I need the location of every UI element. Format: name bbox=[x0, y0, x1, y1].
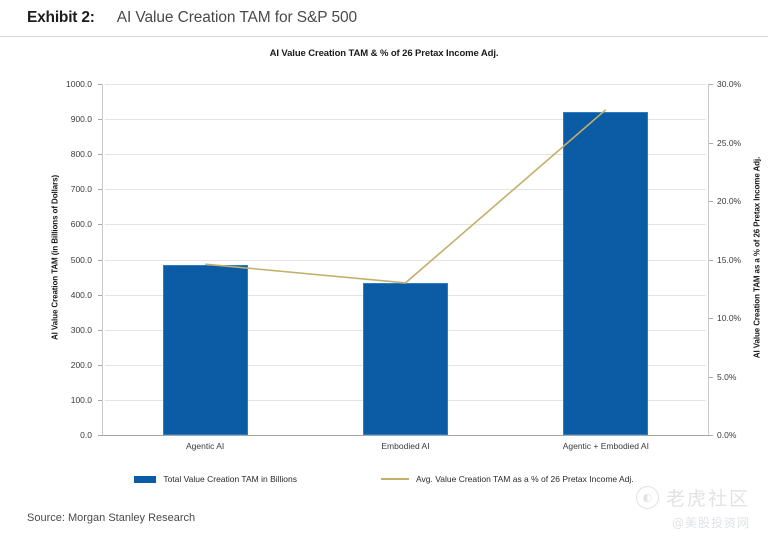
x-axis-tick-label: Agentic + Embodied AI bbox=[526, 441, 686, 451]
y2-axis-tick-label: 10.0% bbox=[717, 314, 741, 323]
plot-area bbox=[105, 84, 706, 435]
legend-item-bar[interactable]: Total Value Creation TAM in Billions bbox=[134, 474, 297, 484]
chart-title: AI Value Creation TAM & % of 26 Pretax I… bbox=[0, 48, 768, 59]
exhibit-label: Exhibit 2: bbox=[27, 9, 95, 27]
line-path bbox=[205, 110, 606, 283]
exhibit-header: Exhibit 2: AI Value Creation TAM for S&P… bbox=[0, 0, 768, 36]
y2-axis-tick-mark bbox=[709, 435, 713, 436]
y2-axis-tick-label: 0.0% bbox=[717, 431, 736, 440]
y2-axis-title: AI Value Creation TAM as a % of 26 Preta… bbox=[753, 108, 762, 408]
x-axis-line bbox=[102, 435, 709, 437]
y2-axis-tick-mark bbox=[709, 201, 713, 202]
y2-axis-tick-mark bbox=[709, 377, 713, 378]
y-axis-tick-label: 200.0 bbox=[30, 361, 92, 370]
page-title: AI Value Creation TAM for S&P 500 bbox=[117, 9, 357, 27]
y-axis-tick-label: 100.0 bbox=[30, 396, 92, 405]
y-axis-tick-label: 500.0 bbox=[30, 256, 92, 265]
y2-axis-tick-mark bbox=[709, 260, 713, 261]
legend-item-line[interactable]: Avg. Value Creation TAM as a % of 26 Pre… bbox=[381, 474, 634, 484]
y2-axis-tick-mark bbox=[709, 318, 713, 319]
y2-axis-tick-mark bbox=[709, 143, 713, 144]
y-axis-tick-label: 400.0 bbox=[30, 291, 92, 300]
y2-axis-tick-label: 20.0% bbox=[717, 197, 741, 206]
y2-axis-tick-mark bbox=[709, 84, 713, 85]
legend-item-label: Total Value Creation TAM in Billions bbox=[163, 474, 297, 484]
y-axis-tick-label: 0.0 bbox=[30, 431, 92, 440]
watermark-handle: @美股投资网 bbox=[600, 514, 750, 531]
source-note: Source: Morgan Stanley Research bbox=[27, 512, 195, 524]
line-series bbox=[105, 84, 706, 435]
y-axis-tick-label: 1000.0 bbox=[30, 80, 92, 89]
y2-axis-tick-label: 15.0% bbox=[717, 256, 741, 265]
y2-axis-tick-label: 25.0% bbox=[717, 139, 741, 148]
chart-container: AI Value Creation TAM & % of 26 Pretax I… bbox=[0, 37, 768, 503]
x-axis-tick-label: Embodied AI bbox=[326, 441, 486, 451]
y2-axis-line bbox=[708, 84, 709, 436]
y2-axis-tick-label: 5.0% bbox=[717, 373, 736, 382]
y2-axis-tick-label: 30.0% bbox=[717, 80, 741, 89]
legend-item-label: Avg. Value Creation TAM as a % of 26 Pre… bbox=[416, 474, 634, 484]
legend-line-swatch-icon bbox=[381, 478, 409, 480]
y-axis-tick-label: 700.0 bbox=[30, 185, 92, 194]
y-axis-tick-label: 300.0 bbox=[30, 326, 92, 335]
y-axis-tick-label: 800.0 bbox=[30, 150, 92, 159]
y-axis-line bbox=[102, 84, 103, 436]
y-axis-tick-label: 600.0 bbox=[30, 220, 92, 229]
y-axis-tick-label: 900.0 bbox=[30, 115, 92, 124]
legend-bar-swatch-icon bbox=[134, 476, 156, 483]
x-axis-tick-label: Agentic AI bbox=[125, 441, 285, 451]
chart-legend: Total Value Creation TAM in Billions Avg… bbox=[0, 474, 768, 484]
